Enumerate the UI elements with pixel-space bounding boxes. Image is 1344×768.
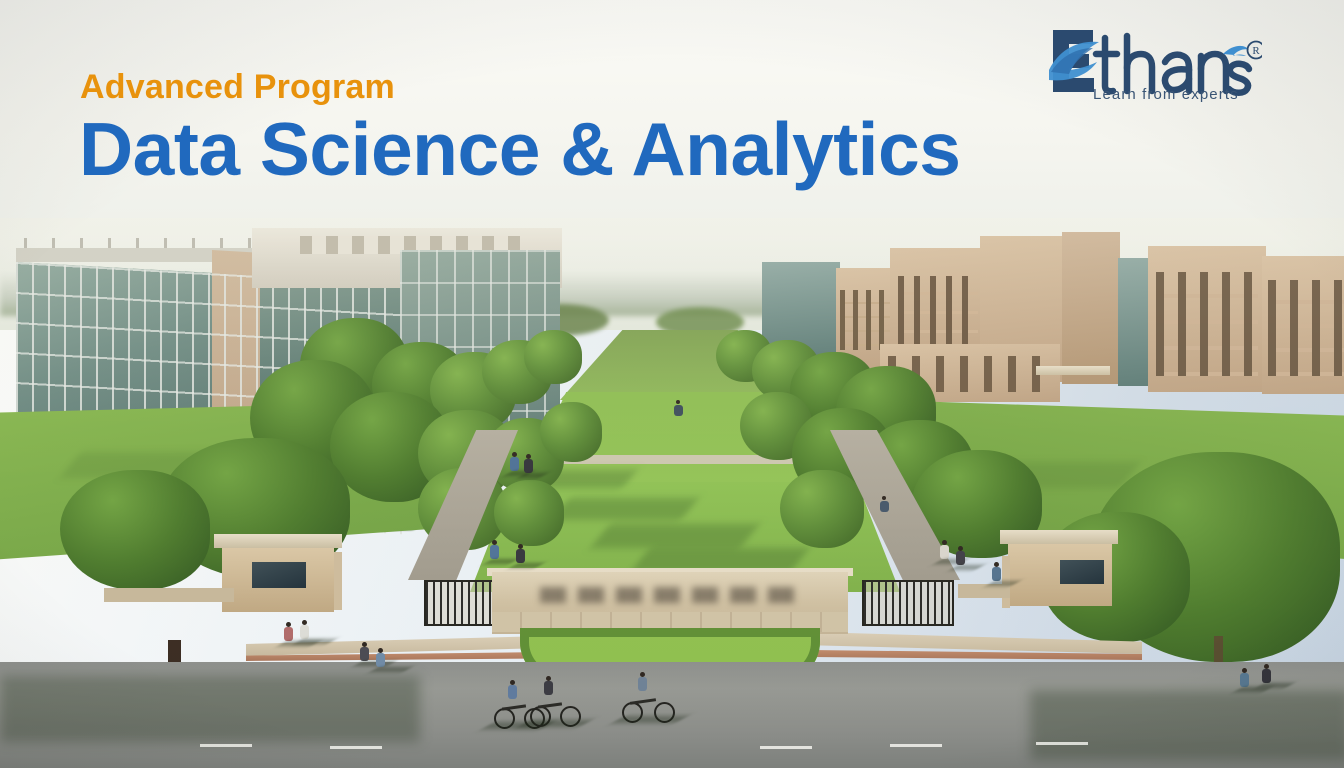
right-edge-block-windows <box>1268 280 1344 376</box>
lane-marking <box>330 746 382 749</box>
road-tree-shadow <box>0 676 420 742</box>
left-gatehouse-roof <box>214 534 342 548</box>
lane-marking <box>890 744 942 747</box>
course-banner: Advanced Program Data Science & Analytic… <box>0 0 1344 768</box>
banner-header: Advanced Program Data Science & Analytic… <box>0 0 1344 222</box>
right-glass-slot <box>1118 258 1150 386</box>
tree <box>60 470 210 590</box>
right-gatehouse-window <box>1060 560 1104 584</box>
program-eyebrow: Advanced Program <box>80 68 395 107</box>
right-block-b-windows <box>898 276 978 354</box>
right-porte-cochere <box>1036 366 1110 375</box>
ethans-logo[interactable]: R Learn from experts <box>1047 24 1262 106</box>
gate-signage-text-blurred <box>540 587 800 603</box>
lawn-shadow <box>591 524 760 548</box>
tree <box>524 330 582 384</box>
left-boundary-wall <box>104 588 234 602</box>
gate-right-panel <box>862 580 954 626</box>
right-tall-block <box>1062 232 1120 384</box>
right-boundary-wall <box>958 584 1010 598</box>
tree <box>494 480 564 546</box>
logo-tagline: Learn from experts <box>1093 86 1239 103</box>
lane-marking <box>200 744 252 747</box>
lawn-shadow <box>551 498 698 520</box>
tree <box>780 470 864 548</box>
road-tree-shadow <box>1030 690 1344 760</box>
left-gatehouse-pillar <box>334 552 342 610</box>
svg-text:R: R <box>1252 45 1260 57</box>
lane-marking <box>760 746 812 749</box>
lane-marking <box>1036 742 1088 745</box>
program-title: Data Science & Analytics <box>79 112 960 187</box>
tree <box>540 402 602 462</box>
left-gatehouse-window <box>252 562 306 588</box>
right-block-a-windows <box>840 290 894 350</box>
right-gatehouse-roof <box>1000 530 1118 544</box>
right-block-d-windows <box>1156 272 1258 376</box>
